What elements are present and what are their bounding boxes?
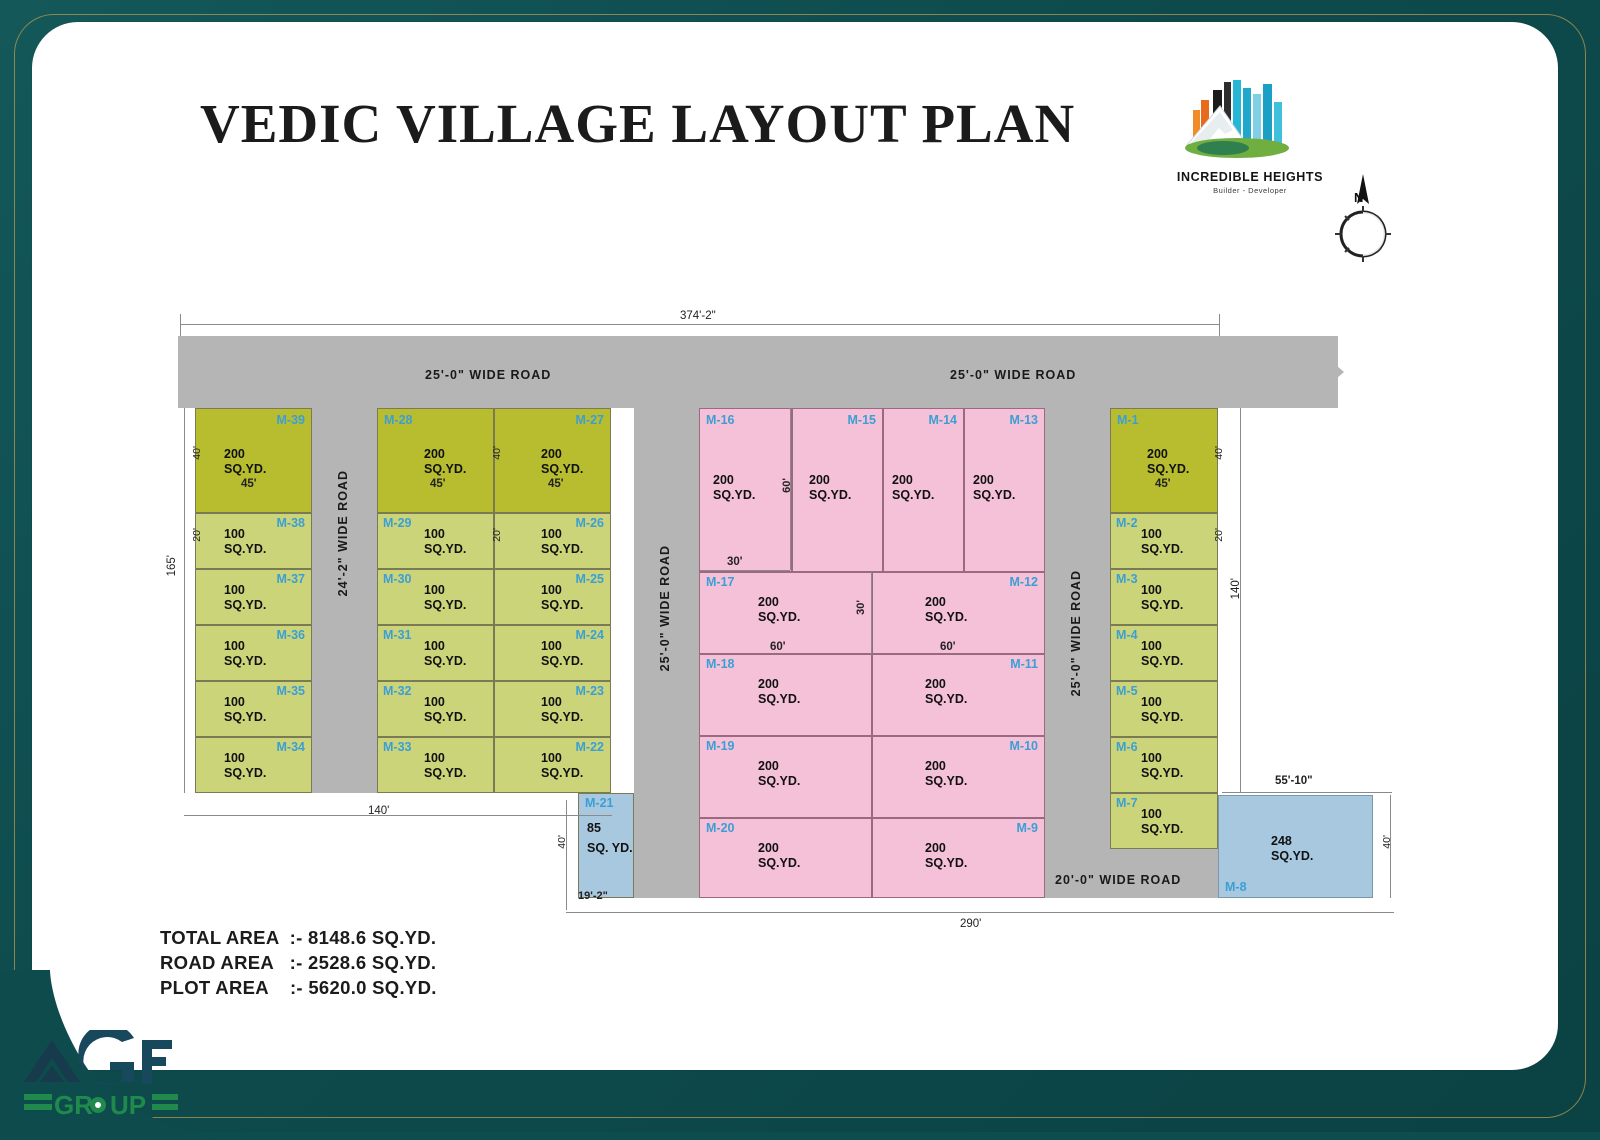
- plot-code: M-14: [929, 413, 957, 427]
- plot-m27[interactable]: M-27 200SQ.YD.: [494, 408, 611, 513]
- plot-area: 200SQ.YD.: [758, 677, 800, 707]
- plot-area: 200SQ.YD.: [809, 473, 851, 503]
- plot-area: 200SQ.YD.: [758, 841, 800, 871]
- plot-code: M-11: [1010, 657, 1038, 671]
- plot-m23[interactable]: M-23 100SQ.YD.: [494, 681, 611, 737]
- agf-group-logo: GR UP: [18, 1030, 188, 1120]
- dimension-line-overall-width: [180, 324, 1220, 325]
- dimension-line-right-height: [1240, 408, 1241, 793]
- plot-m20[interactable]: M-20 200SQ.YD.: [699, 818, 872, 898]
- plot-code: M-20: [706, 821, 734, 835]
- plot-area: 200SQ.YD.: [758, 595, 800, 625]
- plot-code: M-1: [1117, 413, 1139, 427]
- plot-m26[interactable]: M-26 100SQ.YD.: [494, 513, 611, 569]
- plot-m21[interactable]: M-21 85SQ. YD.: [578, 793, 634, 898]
- plot-area: 100SQ.YD.: [541, 527, 583, 557]
- road-top-horizontal: [178, 336, 1338, 408]
- plot-code: M-34: [277, 740, 305, 754]
- plot-m36[interactable]: M-36 100SQ.YD.: [195, 625, 312, 681]
- plot-m9[interactable]: M-9 200SQ.YD.: [872, 818, 1045, 898]
- plot-code: M-8: [1225, 880, 1247, 894]
- dimension-m8-width: 55'-10": [1275, 775, 1313, 787]
- plot-area: 100SQ.YD.: [1141, 695, 1183, 725]
- plot-m35[interactable]: M-35 100SQ.YD.: [195, 681, 312, 737]
- plot-code: M-15: [848, 413, 876, 427]
- road-label-vertical-left: 24'-2" WIDE ROAD: [336, 470, 350, 596]
- plot-m29[interactable]: M-29 100SQ.YD.: [377, 513, 494, 569]
- plot-m39[interactable]: M-39 200SQ.YD.: [195, 408, 312, 513]
- plot-area: 248SQ.YD.: [1271, 834, 1313, 864]
- dimension-overall-width: 374'-2": [680, 310, 716, 322]
- plot-area: 100SQ.YD.: [424, 639, 466, 669]
- plot-m12[interactable]: M-12 200SQ.YD.: [872, 572, 1045, 654]
- plot-code: M-35: [277, 684, 305, 698]
- summary-total-area: TOTAL AREA :- 8148.6 SQ.YD.: [160, 925, 437, 950]
- dimension-col3-20: 20': [491, 528, 503, 542]
- plot-area: 100SQ.YD.: [424, 695, 466, 725]
- dimension-left-block-width: 140': [368, 805, 389, 817]
- plot-m22[interactable]: M-22 100SQ.YD.: [494, 737, 611, 793]
- plot-area: 100SQ.YD.: [541, 639, 583, 669]
- dimension-line-bottom-width: [566, 912, 1394, 913]
- plot-m32[interactable]: M-32 100SQ.YD.: [377, 681, 494, 737]
- svg-text:UP: UP: [110, 1090, 146, 1120]
- dimension-pink-30-mid: 30': [855, 600, 867, 615]
- plot-m5[interactable]: M-5 100SQ.YD.: [1110, 681, 1218, 737]
- road-vertical-left: [312, 408, 377, 793]
- plot-code: M-33: [383, 740, 411, 754]
- dimension-line-pink-30mid: [871, 572, 872, 654]
- plot-code: M-18: [706, 657, 734, 671]
- plot-m18[interactable]: M-18 200SQ.YD.: [699, 654, 872, 736]
- plot-code: M-37: [277, 572, 305, 586]
- plot-area: 100SQ.YD.: [1141, 807, 1183, 837]
- dimension-right-height: 140': [1230, 578, 1242, 599]
- plot-code: M-28: [384, 413, 412, 427]
- svg-text:GR: GR: [54, 1090, 93, 1120]
- plot-m13[interactable]: M-13 200SQ.YD.: [964, 408, 1045, 572]
- plot-m6[interactable]: M-6 100SQ.YD.: [1110, 737, 1218, 793]
- plot-area: 100SQ.YD.: [541, 695, 583, 725]
- dimension-tick: [180, 314, 181, 336]
- plot-m14[interactable]: M-14 200SQ.YD.: [883, 408, 964, 572]
- plot-area: 200SQ.YD.: [1147, 447, 1189, 477]
- dimension-col3-40: 40': [491, 446, 503, 460]
- plot-area: 100SQ.YD.: [424, 583, 466, 613]
- plot-m1[interactable]: M-1 200SQ.YD.: [1110, 408, 1218, 513]
- plot-code: M-10: [1010, 739, 1038, 753]
- plot-m38[interactable]: M-38 100SQ.YD.: [195, 513, 312, 569]
- plot-m7[interactable]: M-7 100SQ.YD.: [1110, 793, 1218, 849]
- road-label-top-right: 25'-0" WIDE ROAD: [950, 368, 1076, 382]
- plot-area: 100SQ.YD.: [224, 583, 266, 613]
- plot-m3[interactable]: M-3 100SQ.YD.: [1110, 569, 1218, 625]
- summary-road-area: ROAD AREA :- 2528.6 SQ.YD.: [160, 950, 437, 975]
- plot-code: M-27: [576, 413, 604, 427]
- plot-m34[interactable]: M-34 100SQ.YD.: [195, 737, 312, 793]
- plot-area: 200SQ.YD.: [541, 447, 583, 477]
- dimension-col1-45: 45': [241, 478, 257, 490]
- road-label-bottom: 20'-0" WIDE ROAD: [1055, 873, 1181, 887]
- plot-code: M-17: [706, 575, 734, 589]
- plot-code: M-5: [1116, 684, 1138, 698]
- dimension-pink-60-vertical: 60': [781, 478, 793, 493]
- plot-area: 200SQ.YD.: [925, 841, 967, 871]
- plot-area: 200SQ.YD.: [973, 473, 1015, 503]
- plot-code: M-16: [706, 413, 734, 427]
- plot-m16[interactable]: M-16 200SQ.YD.: [699, 408, 792, 572]
- plot-code: M-9: [1016, 821, 1038, 835]
- plot-area: 100SQ.YD.: [1141, 527, 1183, 557]
- plot-m33[interactable]: M-33 100SQ.YD.: [377, 737, 494, 793]
- plot-code: M-19: [706, 739, 734, 753]
- dimension-col1-20: 20': [191, 528, 203, 542]
- plot-code: M-13: [1010, 413, 1038, 427]
- plot-code: M-29: [383, 516, 411, 530]
- plot-m28[interactable]: M-28 200SQ.YD.: [377, 408, 494, 513]
- dimension-tick: [1219, 314, 1220, 336]
- plot-m8[interactable]: M-8 248SQ.YD.: [1218, 795, 1373, 898]
- dimension-col1-40: 40': [191, 446, 203, 460]
- plot-code: M-6: [1116, 740, 1138, 754]
- plot-area: 100SQ.YD.: [1141, 751, 1183, 781]
- plot-area: 200SQ.YD.: [424, 447, 466, 477]
- dimension-pink-60-left: 60': [770, 641, 786, 653]
- road-label-top-left: 25'-0" WIDE ROAD: [425, 368, 551, 382]
- summary-plot-area: PLOT AREA :- 5620.0 SQ.YD.: [160, 975, 437, 1000]
- plot-m19[interactable]: M-19 200SQ.YD.: [699, 736, 872, 818]
- plot-code: M-31: [383, 628, 411, 642]
- plot-code: M-39: [277, 413, 305, 427]
- plot-area: 200SQ.YD.: [892, 473, 934, 503]
- dimension-line-left-block-width: [184, 815, 612, 816]
- plot-area: 100SQ.YD.: [224, 527, 266, 557]
- plot-area: 100SQ.YD.: [541, 751, 583, 781]
- plot-area: 100SQ.YD.: [224, 695, 266, 725]
- plot-m37[interactable]: M-37 100SQ.YD.: [195, 569, 312, 625]
- plot-m4[interactable]: M-4 100SQ.YD.: [1110, 625, 1218, 681]
- dimension-line-pink-30: [700, 570, 790, 571]
- dimension-pink-30-top: 30': [727, 556, 743, 568]
- road-label-vertical-mid: 25'-0" WIDE ROAD: [658, 545, 672, 671]
- plot-area: 100SQ.YD.: [224, 751, 266, 781]
- dimension-col3-45: 45': [548, 478, 564, 490]
- plot-area: 100SQ.YD.: [424, 527, 466, 557]
- area-summary: TOTAL AREA :- 8148.6 SQ.YD. ROAD AREA :-…: [160, 925, 437, 1000]
- dimension-left-height: 165': [166, 555, 178, 576]
- plot-area: 85SQ. YD.: [587, 818, 633, 858]
- dimension-line-m21-left: [566, 800, 567, 910]
- plot-m10[interactable]: M-10 200SQ.YD.: [872, 736, 1045, 818]
- plot-m30[interactable]: M-30 100SQ.YD.: [377, 569, 494, 625]
- dimension-m8-height: 40': [1381, 835, 1393, 849]
- plot-area: 200SQ.YD.: [925, 759, 967, 789]
- plot-m15[interactable]: M-15 200SQ.YD.: [792, 408, 883, 572]
- plot-code: M-32: [383, 684, 411, 698]
- plot-code: M-3: [1116, 572, 1138, 586]
- plot-code: M-38: [277, 516, 305, 530]
- plot-m11[interactable]: M-11 200SQ.YD.: [872, 654, 1045, 736]
- plot-code: M-12: [1010, 575, 1038, 589]
- dimension-right-45: 45': [1155, 478, 1171, 490]
- plot-area: 100SQ.YD.: [1141, 583, 1183, 613]
- plot-code: M-4: [1116, 628, 1138, 642]
- plot-area: 100SQ.YD.: [224, 639, 266, 669]
- plot-code: M-7: [1116, 796, 1138, 810]
- dimension-right-20: 20': [1213, 528, 1225, 542]
- plot-area: 200SQ.YD.: [224, 447, 266, 477]
- dimension-m21-width: 19'-2": [578, 890, 608, 902]
- plot-m25[interactable]: M-25 100SQ.YD.: [494, 569, 611, 625]
- plot-area: 200SQ.YD.: [758, 759, 800, 789]
- dimension-pink-60-right: 60': [940, 641, 956, 653]
- plot-code: M-21: [585, 796, 613, 810]
- plot-area: 200SQ.YD.: [925, 595, 967, 625]
- road-label-vertical-right: 25'-0" WIDE ROAD: [1069, 570, 1083, 696]
- plot-m24[interactable]: M-24 100SQ.YD.: [494, 625, 611, 681]
- plot-area: 100SQ.YD.: [541, 583, 583, 613]
- plot-area: 200SQ.YD.: [713, 473, 755, 503]
- plot-area: 100SQ.YD.: [1141, 639, 1183, 669]
- dimension-col2-45: 45': [430, 478, 446, 490]
- plot-m31[interactable]: M-31 100SQ.YD.: [377, 625, 494, 681]
- dimension-line-m8-width: [1222, 792, 1392, 793]
- plot-code: M-36: [277, 628, 305, 642]
- plot-code: M-2: [1116, 516, 1138, 530]
- plot-area: 100SQ.YD.: [424, 751, 466, 781]
- plot-code: M-30: [383, 572, 411, 586]
- plot-m2[interactable]: M-2 100SQ.YD.: [1110, 513, 1218, 569]
- dimension-bottom-width: 290': [960, 918, 981, 930]
- dimension-line-left-height: [184, 408, 185, 793]
- plot-area: 200SQ.YD.: [925, 677, 967, 707]
- dimension-right-40: 40': [1213, 446, 1225, 460]
